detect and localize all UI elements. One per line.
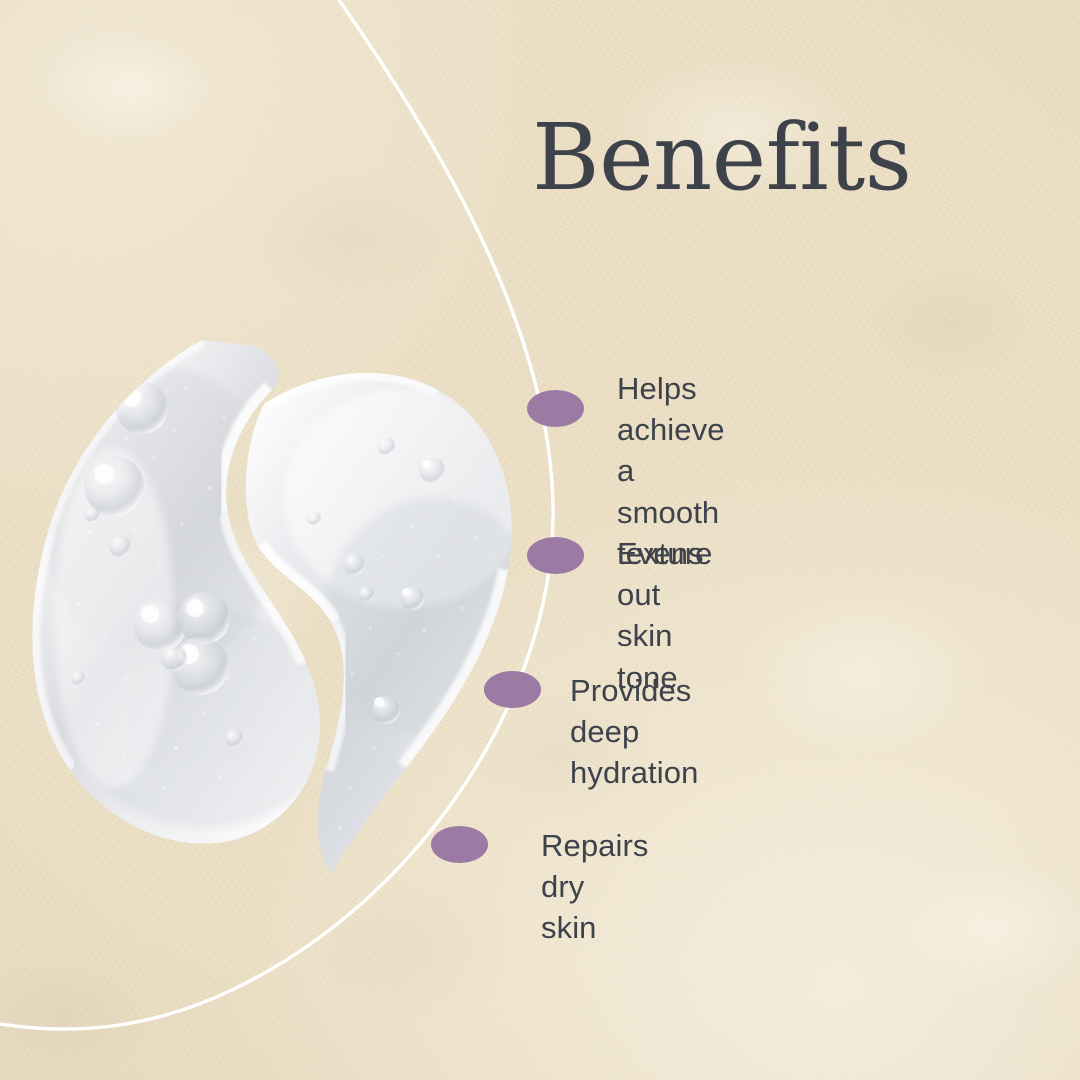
benefit-label-4: Repairs dry skin [541, 825, 649, 949]
benefit-label-3: Provides deep hydration [570, 670, 698, 794]
bullet-ellipse-icon [527, 390, 584, 427]
page-title: Benefits [532, 112, 911, 204]
cosmetic-gel-swatch [14, 318, 534, 878]
bullet-ellipse-icon [484, 671, 541, 708]
benefits-infographic: Benefits Helps achieve a smooth texture … [0, 0, 1080, 1080]
bullet-ellipse-icon [431, 826, 488, 863]
bullet-ellipse-icon [527, 537, 584, 574]
